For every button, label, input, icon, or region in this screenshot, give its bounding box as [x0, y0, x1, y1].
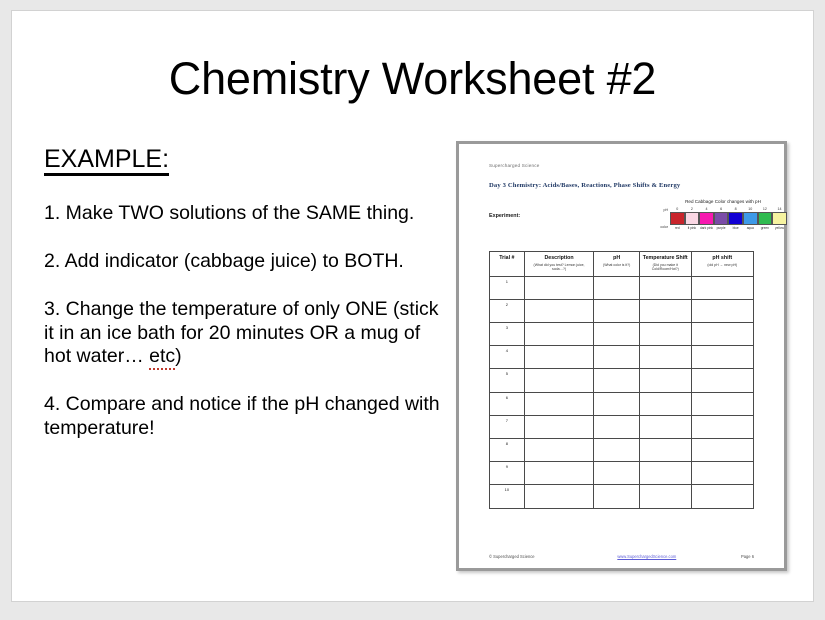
- experiment-label: Experiment:: [489, 213, 520, 219]
- cell-ph[interactable]: [594, 276, 640, 299]
- worksheet-image: Supercharged Science Day 3 Chemistry: Ac…: [456, 141, 787, 571]
- table-row: 5: [490, 369, 754, 392]
- worksheet-page: Supercharged Science Day 3 Chemistry: Ac…: [459, 144, 784, 568]
- ph-color-name: dark pink: [699, 225, 714, 230]
- column-header-ph-shift: pH shift (old pH → new pH): [691, 252, 753, 277]
- column-header-temperature-shift: Temperature Shift (Did you make it Cold/…: [639, 252, 691, 277]
- worksheet-heading: Day 3 Chemistry: Acids/Bases, Reactions,…: [489, 182, 768, 189]
- trial-number-cell: 5: [490, 369, 525, 392]
- cell-ph-shift[interactable]: [691, 299, 753, 322]
- ph-color-name: green: [758, 225, 773, 230]
- cell-description[interactable]: [524, 438, 594, 461]
- cell-description[interactable]: [524, 276, 594, 299]
- cell-ph[interactable]: [594, 323, 640, 346]
- ph-color-name: lt pink: [685, 225, 700, 230]
- instruction-step-2: 2. Add indicator (cabbage juice) to BOTH…: [44, 250, 444, 274]
- instruction-step-3: 3. Change the temperature of only ONE (s…: [44, 298, 444, 369]
- ph-color-chart: Red Cabbage Color changes with pH pH 0 2…: [659, 199, 787, 230]
- header-title: Temperature Shift: [643, 255, 688, 261]
- cell-ph[interactable]: [594, 299, 640, 322]
- table-row: 10: [490, 485, 754, 508]
- cell-ph-shift[interactable]: [691, 323, 753, 346]
- cell-temperature-shift[interactable]: [639, 392, 691, 415]
- column-header-trial: Trial #: [490, 252, 525, 277]
- cell-description[interactable]: [524, 299, 594, 322]
- cell-ph-shift[interactable]: [691, 346, 753, 369]
- cell-ph-shift[interactable]: [691, 462, 753, 485]
- cell-temperature-shift[interactable]: [639, 346, 691, 369]
- trial-number-cell: 8: [490, 438, 525, 461]
- instruction-step-1: 1. Make TWO solutions of the SAME thing.: [44, 202, 444, 226]
- table-row: 6: [490, 392, 754, 415]
- ph-swatch: [670, 212, 685, 225]
- header-title: pH: [613, 255, 620, 261]
- cell-temperature-shift[interactable]: [639, 462, 691, 485]
- trial-number-cell: 4: [490, 346, 525, 369]
- table-row: 4: [490, 346, 754, 369]
- ph-swatch: [743, 212, 758, 225]
- table-row: 9: [490, 462, 754, 485]
- ph-axis-label: pH: [659, 208, 670, 212]
- header-subtitle: (old pH → new pH): [694, 263, 751, 267]
- cell-description[interactable]: [524, 392, 594, 415]
- presentation-slide: Chemistry Worksheet #2 EXAMPLE: 1. Make …: [11, 10, 814, 602]
- table-header-row: Trial # Description (What did you test? …: [490, 252, 754, 277]
- header-title: Description: [544, 255, 573, 261]
- header-title: pH shift: [712, 255, 732, 261]
- ph-swatch: [685, 212, 700, 225]
- trial-number-cell: 10: [490, 485, 525, 508]
- cell-ph[interactable]: [594, 462, 640, 485]
- cell-ph[interactable]: [594, 346, 640, 369]
- page-title: Chemistry Worksheet #2: [12, 53, 813, 105]
- cell-temperature-shift[interactable]: [639, 276, 691, 299]
- ph-color-name: red: [670, 225, 685, 230]
- cell-description[interactable]: [524, 369, 594, 392]
- trial-number-cell: 7: [490, 415, 525, 438]
- website-link[interactable]: www.SuperchargedScience.com: [553, 554, 741, 559]
- instructions-column: EXAMPLE: 1. Make TWO solutions of the SA…: [44, 146, 444, 441]
- example-heading: EXAMPLE:: [44, 146, 169, 176]
- table-row: 2: [490, 299, 754, 322]
- cell-temperature-shift[interactable]: [639, 323, 691, 346]
- ph-swatch: [758, 212, 773, 225]
- instruction-step-4: 4. Compare and notice if the pH changed …: [44, 393, 444, 441]
- table-row: 8: [490, 438, 754, 461]
- cell-ph-shift[interactable]: [691, 276, 753, 299]
- column-header-ph: pH (What color is it?): [594, 252, 640, 277]
- trial-number-cell: 6: [490, 392, 525, 415]
- spellcheck-underlined-word: etc: [149, 345, 175, 370]
- cell-description[interactable]: [524, 323, 594, 346]
- cell-ph-shift[interactable]: [691, 392, 753, 415]
- trials-table: Trial # Description (What did you test? …: [489, 251, 754, 509]
- ph-chart-grid: pH 0 2 4 6 8 10 12 14: [659, 207, 787, 230]
- step3-text-b: ): [175, 345, 182, 367]
- color-axis-label: color: [659, 225, 670, 229]
- ph-swatch: [699, 212, 714, 225]
- trial-number-cell: 9: [490, 462, 525, 485]
- trial-number-cell: 3: [490, 323, 525, 346]
- worksheet-footer: © Supercharged Science www.SuperchargedS…: [475, 554, 768, 559]
- worksheet-brand: Supercharged Science: [489, 163, 768, 168]
- cell-ph[interactable]: [594, 438, 640, 461]
- cell-description[interactable]: [524, 462, 594, 485]
- cell-ph[interactable]: [594, 415, 640, 438]
- step3-text-a: 3. Change the temperature of only ONE (s…: [44, 298, 439, 368]
- cell-temperature-shift[interactable]: [639, 299, 691, 322]
- cell-temperature-shift[interactable]: [639, 485, 691, 508]
- table-body: 12345678910: [490, 276, 754, 508]
- page-number: Page 6: [741, 554, 754, 559]
- copyright-text: © Supercharged Science: [489, 554, 535, 559]
- header-subtitle: (What color is it?): [596, 263, 637, 267]
- cell-ph[interactable]: [594, 485, 640, 508]
- table-header: Trial # Description (What did you test? …: [490, 252, 754, 277]
- ph-swatch: [714, 212, 729, 225]
- ph-swatch: [728, 212, 743, 225]
- ph-color-name: aqua: [743, 225, 758, 230]
- cell-ph-shift[interactable]: [691, 369, 753, 392]
- cell-ph[interactable]: [594, 392, 640, 415]
- cell-temperature-shift[interactable]: [639, 438, 691, 461]
- cell-description[interactable]: [524, 485, 594, 508]
- ph-chart-title: Red Cabbage Color changes with pH: [659, 199, 787, 204]
- ph-color-name: blue: [728, 225, 743, 230]
- ph-color-name: purple: [714, 225, 729, 230]
- cell-ph-shift[interactable]: [691, 485, 753, 508]
- table-row: 3: [490, 323, 754, 346]
- column-header-description: Description (What did you test? Lemon ju…: [524, 252, 594, 277]
- cell-temperature-shift[interactable]: [639, 369, 691, 392]
- cell-temperature-shift[interactable]: [639, 415, 691, 438]
- cell-ph[interactable]: [594, 369, 640, 392]
- header-subtitle: (Did you make it Cold/Room/Hot?): [642, 263, 689, 272]
- cell-ph-shift[interactable]: [691, 415, 753, 438]
- ph-swatch: [772, 212, 787, 225]
- trial-number-cell: 2: [490, 299, 525, 322]
- worksheet-subheader-row: Experiment: Red Cabbage Color changes wi…: [489, 199, 768, 243]
- ph-color-name: yellow: [772, 225, 787, 230]
- trial-number-cell: 1: [490, 276, 525, 299]
- header-subtitle: (What did you test? Lemon juice, soda…?): [527, 263, 592, 272]
- table-row: 1: [490, 276, 754, 299]
- cell-description[interactable]: [524, 346, 594, 369]
- cell-ph-shift[interactable]: [691, 438, 753, 461]
- header-title: Trial #: [499, 255, 514, 261]
- table-row: 7: [490, 415, 754, 438]
- cell-description[interactable]: [524, 415, 594, 438]
